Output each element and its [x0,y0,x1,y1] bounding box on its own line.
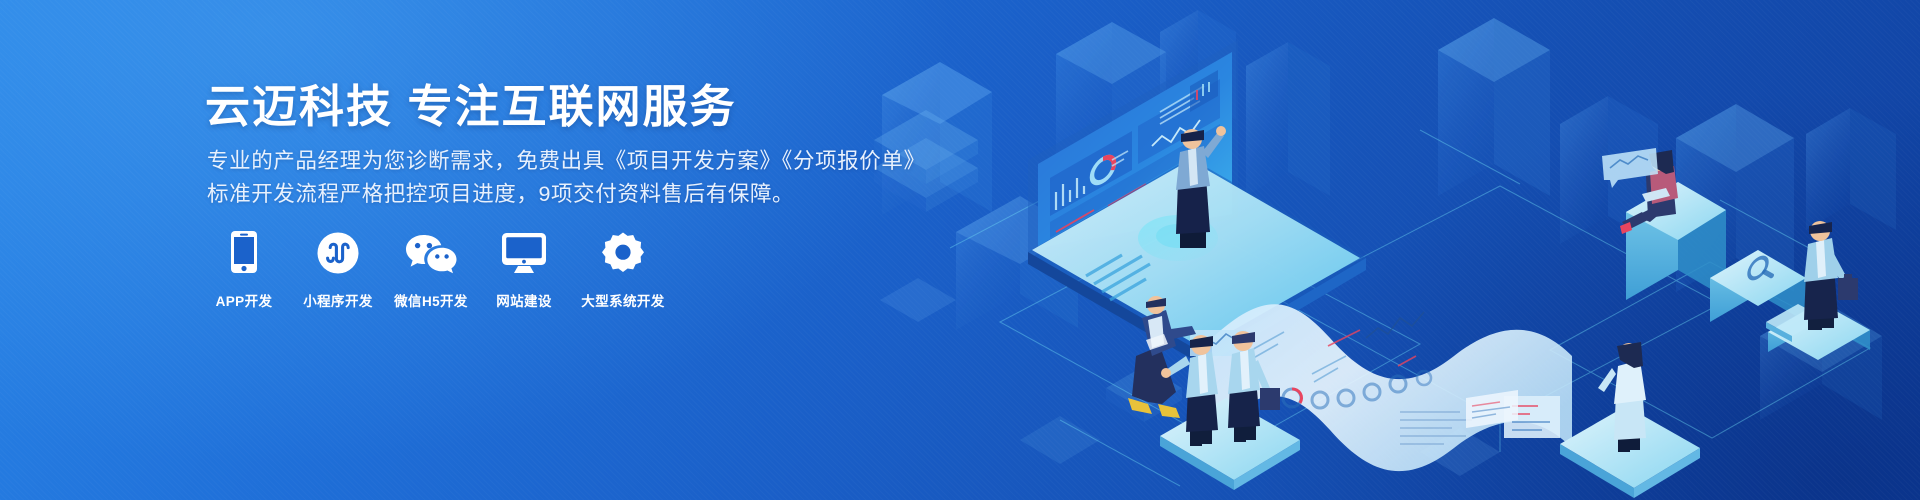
hero-banner: 云迈科技 专注互联网服务 专业的产品经理为您诊断需求，免费出具《项目开发方案》《… [0,0,1920,500]
service-label: 微信H5开发 [394,290,468,310]
service-item-website[interactable]: 网站建设 [485,228,563,310]
banner-content: 云迈科技 专注互联网服务 专业的产品经理为您诊断需求，免费出具《项目开发方案》《… [205,0,965,500]
monitor-icon [501,228,547,274]
service-label: 网站建设 [496,290,552,310]
service-item-app[interactable]: APP开发 [205,228,283,310]
gear-icon [602,228,644,274]
subtitle-line-1: 专业的产品经理为您诊断需求，免费出具《项目开发方案》《分项报价单》 [207,145,926,178]
page-title: 云迈科技 专注互联网服务 [205,70,737,135]
service-label: 小程序开发 [303,290,373,310]
subtitle-line-2: 标准开发流程严格把控项目进度，9项交付资料售后有保障。 [207,178,926,211]
service-item-wechat[interactable]: 微信H5开发 [387,228,475,310]
service-item-system[interactable]: 大型系统开发 [571,228,675,310]
wechat-icon [405,228,457,274]
mini-program-icon [317,228,359,274]
illustration-isometric-digital-business [860,0,1920,500]
illustration-svg [860,0,1920,500]
service-list: APP开发 小程序开发 [205,228,675,310]
banner-subtitle: 专业的产品经理为您诊断需求，免费出具《项目开发方案》《分项报价单》 标准开发流程… [207,145,926,211]
mobile-phone-icon [230,228,258,274]
service-item-miniprogram[interactable]: 小程序开发 [299,228,377,310]
service-label: 大型系统开发 [581,290,664,310]
service-label: APP开发 [216,290,273,310]
